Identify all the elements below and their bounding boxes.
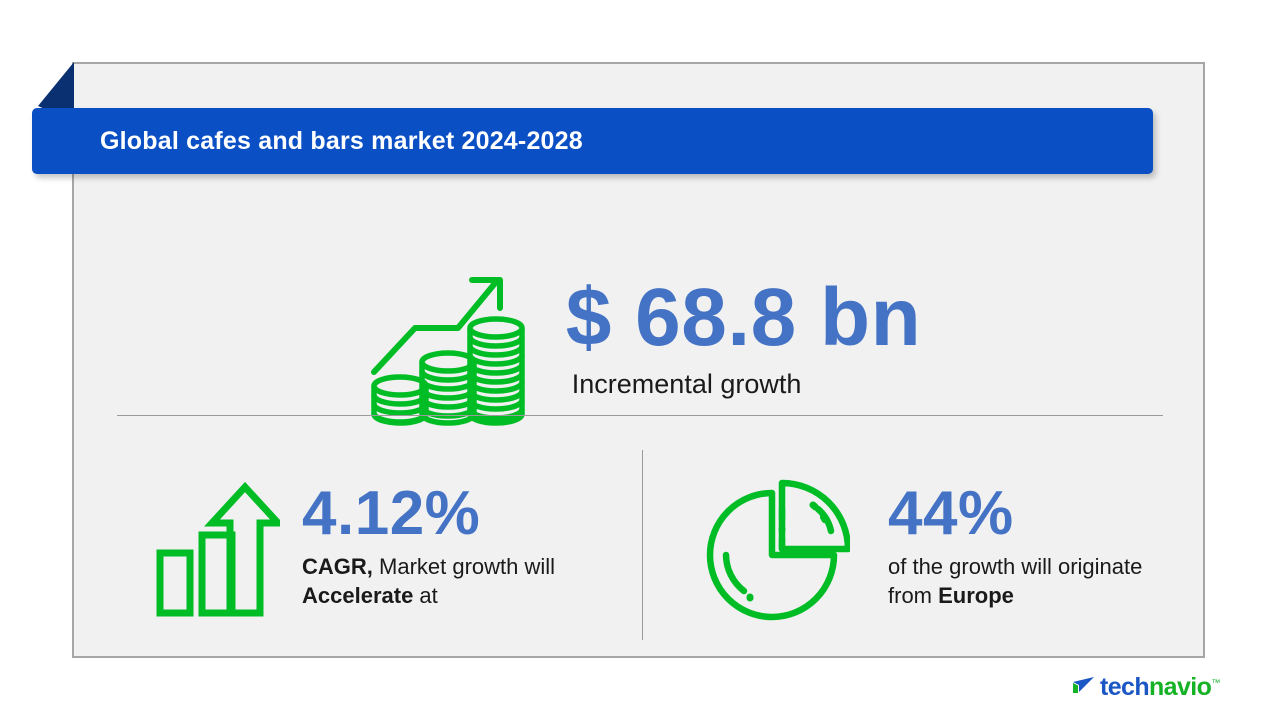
horizontal-divider	[117, 415, 1163, 416]
trademark-symbol: ™	[1211, 677, 1219, 687]
metric-panel-region: 44% of the growth will originate from Eu…	[642, 439, 1207, 654]
metric-text-region: 44% of the growth will originate from Eu…	[888, 483, 1178, 610]
region-share-caption: of the growth will originate from Europe	[888, 552, 1178, 610]
incremental-growth-value: $ 68.8 bn	[566, 278, 921, 358]
paper-plane-icon	[1070, 674, 1096, 700]
coin-stacks-growth-icon	[360, 256, 532, 428]
logo-text-tech: tech	[1100, 673, 1149, 701]
bar-chart-up-arrow-icon	[152, 477, 280, 617]
incremental-growth-label: Incremental growth	[572, 370, 921, 400]
cagr-caption: CAGR, Market growth will Accelerate at	[302, 552, 592, 610]
cagr-value: 4.12%	[302, 483, 592, 545]
metrics-section: 4.12% CAGR, Market growth will Accelerat…	[74, 439, 1207, 654]
highlight-section: $ 68.8 bn Incremental growth	[74, 214, 1207, 464]
metric-panel-cagr: 4.12% CAGR, Market growth will Accelerat…	[74, 439, 642, 654]
technavio-logo[interactable]: technavio™	[1070, 674, 1220, 700]
logo-text-navio: navio	[1149, 673, 1211, 701]
highlight-text: $ 68.8 bn Incremental growth	[566, 278, 921, 400]
title-banner: Global cafes and bars market 2024-2028	[32, 108, 1153, 174]
metric-text-cagr: 4.12% CAGR, Market growth will Accelerat…	[302, 483, 592, 610]
region-share-value: 44%	[888, 483, 1178, 545]
pie-chart-segment-icon	[700, 469, 850, 624]
page-title: Global cafes and bars market 2024-2028	[100, 127, 583, 156]
logo-wordmark: technavio™	[1100, 675, 1220, 700]
